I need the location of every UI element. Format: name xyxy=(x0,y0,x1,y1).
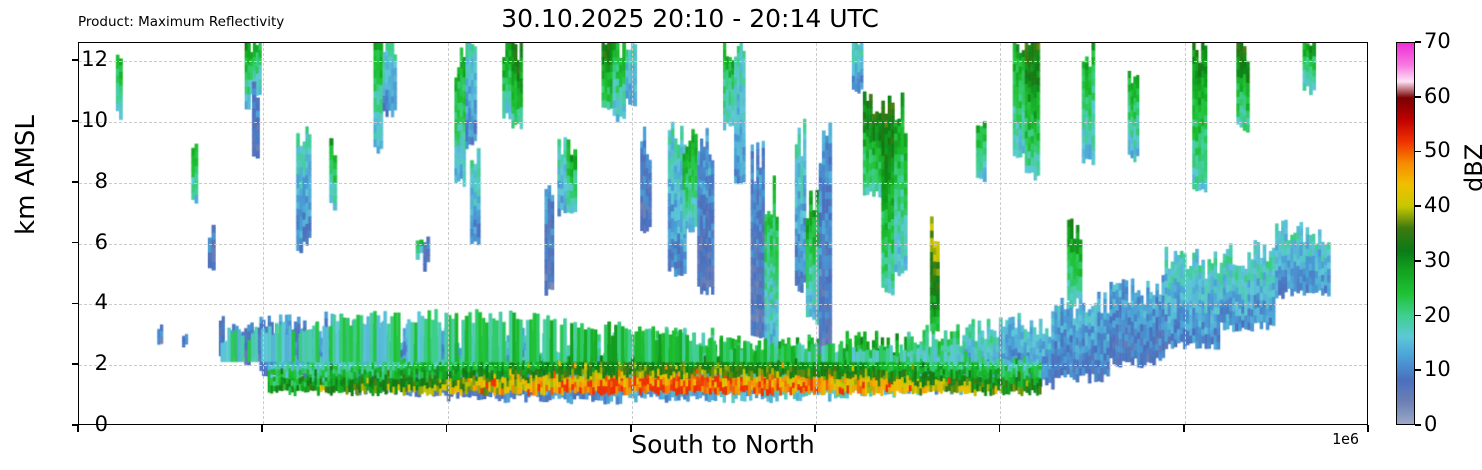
y-tick-label-2: 2 xyxy=(48,351,108,375)
y-tick-label-10: 10 xyxy=(48,108,108,132)
x-axis-exponent: 1e6 xyxy=(1332,430,1359,448)
colorbar-tick-label-70: 70 xyxy=(1424,29,1451,53)
colorbar-tick-label-0: 0 xyxy=(1424,412,1437,436)
y-tick-label-8: 8 xyxy=(48,169,108,193)
y-tick-label-6: 6 xyxy=(48,230,108,254)
colorbar-tick-mark xyxy=(1415,41,1421,43)
plot-area xyxy=(78,42,1368,425)
colorbar-tick-label-60: 60 xyxy=(1424,84,1451,108)
y-tick-label-4: 4 xyxy=(48,290,108,314)
colorbar-tick-label-50: 50 xyxy=(1424,138,1451,162)
colorbar-tick-mark xyxy=(1415,315,1421,317)
chart-title: 30.10.2025 20:10 - 20:14 UTC xyxy=(0,4,1380,33)
colorbar-gradient xyxy=(1396,42,1415,425)
x-axis-label: South to North xyxy=(78,430,1368,459)
colorbar-tick-mark xyxy=(1415,205,1421,207)
colorbar-tick-mark xyxy=(1415,369,1421,371)
y-axis-label: km AMSL xyxy=(11,95,41,255)
colorbar-tick-label-10: 10 xyxy=(1424,357,1451,381)
reflectivity-heatmap xyxy=(79,43,1367,424)
y-tick-label-12: 12 xyxy=(48,47,108,71)
colorbar-label: dBZ xyxy=(1460,144,1482,192)
colorbar-tick-label-20: 20 xyxy=(1424,303,1451,327)
colorbar-tick-label-30: 30 xyxy=(1424,248,1451,272)
radar-cross-section-figure: Product: Maximum Reflectivity 30.10.2025… xyxy=(0,0,1482,470)
colorbar-tick-mark xyxy=(1415,96,1421,98)
colorbar-tick-mark xyxy=(1415,151,1421,153)
colorbar-tick-mark xyxy=(1415,260,1421,262)
colorbar-tick-label-40: 40 xyxy=(1424,193,1451,217)
colorbar-tick-mark xyxy=(1415,424,1421,426)
